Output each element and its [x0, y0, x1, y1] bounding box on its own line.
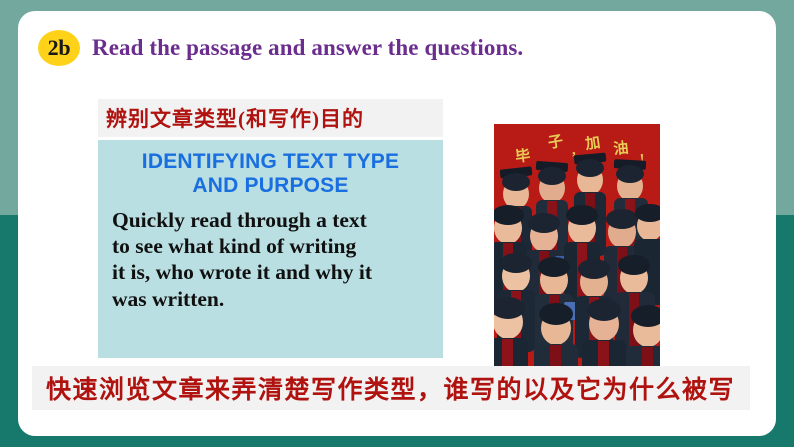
svg-text:子: 子 [547, 133, 565, 152]
exercise-header: 2b Read the passage and answer the quest… [38, 30, 523, 66]
strategy-body-line-1: Quickly read through a text [112, 207, 439, 233]
strategy-body-text: Quickly read through a text to see what … [98, 197, 443, 312]
strategy-info-box: IDENTIFYING TEXT TYPE AND PURPOSE Quickl… [98, 140, 443, 358]
strategy-chinese-caption: 辨别文章类型(和写作)目的 [98, 103, 364, 133]
strategy-body-line-3: it is, who wrote it and why it [112, 259, 439, 285]
slide-canvas: 2b Read the passage and answer the quest… [0, 0, 794, 447]
strategy-heading: IDENTIFYING TEXT TYPE AND PURPOSE [98, 140, 443, 197]
graduation-photo: 毕 子 , 加 油 ! [494, 124, 660, 366]
strategy-chinese-caption-strip: 辨别文章类型(和写作)目的 [98, 99, 443, 137]
translation-text: 快速浏览文章来弄清楚写作类型，谁写的以及它为什么被写 [32, 370, 735, 406]
strategy-body-line-2: to see what kind of writing [112, 233, 439, 259]
strategy-heading-line-2: AND PURPOSE [106, 174, 435, 198]
exercise-instruction: Read the passage and answer the question… [92, 35, 523, 61]
svg-text:毕: 毕 [514, 146, 531, 166]
strategy-heading-line-1: IDENTIFYING TEXT TYPE [106, 150, 435, 174]
graduation-photo-illustration: 毕 子 , 加 油 ! [494, 124, 660, 366]
translation-strip: 快速浏览文章来弄清楚写作类型，谁写的以及它为什么被写 [32, 366, 750, 410]
exercise-number-badge: 2b [38, 30, 80, 66]
strategy-body-line-4: was written. [112, 286, 439, 312]
svg-text:加: 加 [583, 134, 601, 153]
svg-text:油: 油 [613, 139, 630, 158]
